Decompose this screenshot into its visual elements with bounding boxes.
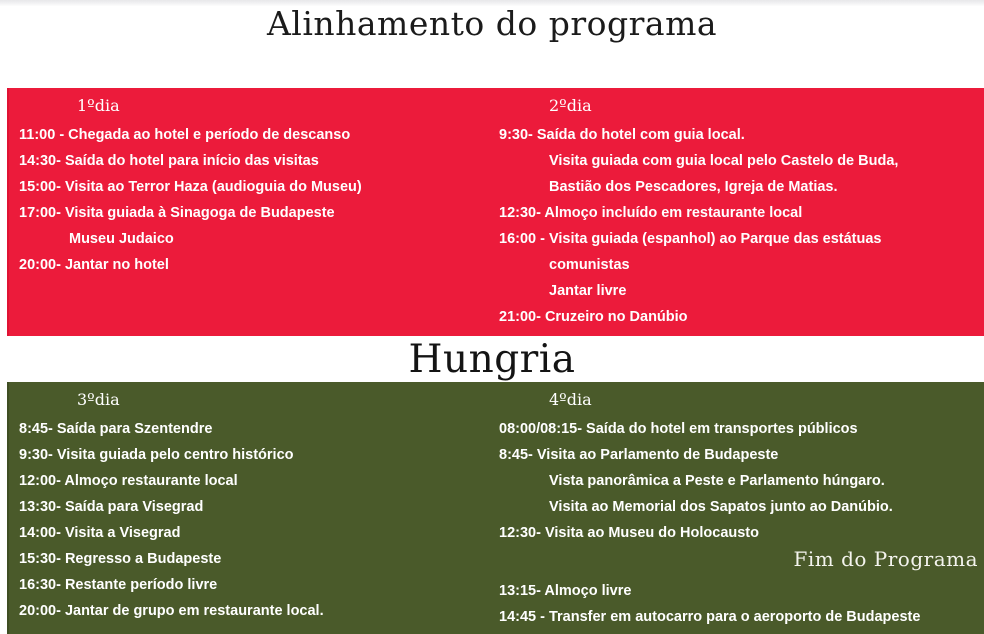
day2-lines: 9:30- Saída do hotel com guia local.Visi… xyxy=(499,122,984,330)
schedule-line: 14:45 - Transfer em autocarro para o aer… xyxy=(499,604,984,630)
schedule-line: 12:30- Almoço incluído em restaurante lo… xyxy=(499,200,984,226)
day1-label: 1ºdia xyxy=(77,96,499,116)
schedule-line: Bastião dos Pescadores, Igreja de Matias… xyxy=(499,174,984,200)
schedule-line: 20:00- Jantar de grupo em restaurante lo… xyxy=(19,598,499,624)
schedule-line: 15:30- Regresso a Budapeste xyxy=(19,546,499,572)
schedule-line: 8:45- Saída para Szentendre xyxy=(19,416,499,442)
day2-label: 2ºdia xyxy=(549,96,984,116)
day4-column: 4ºdia 08:00/08:15- Saída do hotel em tra… xyxy=(499,382,984,634)
schedule-line: 21:00- Cruzeiro no Danúbio xyxy=(499,304,984,330)
schedule-line: Visita ao Memorial dos Sapatos junto ao … xyxy=(499,494,984,520)
schedule-line: 9:30- Visita guiada pelo centro históric… xyxy=(19,442,499,468)
schedule-line: Jantar livre xyxy=(499,278,984,304)
green-band-columns: 3ºdia 8:45- Saída para Szentendre9:30- V… xyxy=(9,382,984,634)
page-title: Alinhamento do programa xyxy=(0,4,984,44)
schedule-line: 13:30- Saída para Visegrad xyxy=(19,494,499,520)
schedule-line: 08:00/08:15- Saída do hotel em transport… xyxy=(499,416,984,442)
country-title: Hungria xyxy=(0,336,984,384)
slide-canvas: Alinhamento do programa 1ºdia 11:00 - Ch… xyxy=(0,0,984,634)
schedule-line: 15:00- Visita ao Terror Haza (audioguia … xyxy=(19,174,499,200)
schedule-line: 16:30- Restante período livre xyxy=(19,572,499,598)
day3-column: 3ºdia 8:45- Saída para Szentendre9:30- V… xyxy=(19,382,499,634)
day1-column: 1ºdia 11:00 - Chegada ao hotel e período… xyxy=(19,88,499,336)
end-of-program-note: Fim do Programa xyxy=(499,546,984,572)
day3-label: 3ºdia xyxy=(77,390,499,410)
red-schedule-band: 1ºdia 11:00 - Chegada ao hotel e período… xyxy=(7,88,984,336)
schedule-line: 12:00- Almoço restaurante local xyxy=(19,468,499,494)
schedule-line: Vista panorâmica a Peste e Parlamento hú… xyxy=(499,468,984,494)
green-schedule-band: 3ºdia 8:45- Saída para Szentendre9:30- V… xyxy=(7,382,984,634)
schedule-line: comunistas xyxy=(499,252,984,278)
schedule-line: 17:00- Visita guiada à Sinagoga de Budap… xyxy=(19,200,499,226)
schedule-line: 14:30- Saída do hotel para início das vi… xyxy=(19,148,499,174)
day4-lines: 08:00/08:15- Saída do hotel em transport… xyxy=(499,416,984,546)
day2-column: 2ºdia 9:30- Saída do hotel com guia loca… xyxy=(499,88,984,336)
schedule-line: 11:00 - Chegada ao hotel e período de de… xyxy=(19,122,499,148)
schedule-line: 20:00- Jantar no hotel xyxy=(19,252,499,278)
day1-lines: 11:00 - Chegada ao hotel e período de de… xyxy=(19,122,499,278)
schedule-line: 12:30- Visita ao Museu do Holocausto xyxy=(499,520,984,546)
schedule-line: 8:45- Visita ao Parlamento de Budapeste xyxy=(499,442,984,468)
day4-label: 4ºdia xyxy=(549,390,984,410)
schedule-line: 14:00- Visita a Visegrad xyxy=(19,520,499,546)
schedule-line: Museu Judaico xyxy=(19,226,499,252)
schedule-line: 16:00 - Visita guiada (espanhol) ao Parq… xyxy=(499,226,984,252)
schedule-line: Visita guiada com guia local pelo Castel… xyxy=(499,148,984,174)
schedule-line: 13:15- Almoço livre xyxy=(499,578,984,604)
day4-trailing-lines: 13:15- Almoço livre14:45 - Transfer em a… xyxy=(499,578,984,630)
schedule-line: 9:30- Saída do hotel com guia local. xyxy=(499,122,984,148)
day3-lines: 8:45- Saída para Szentendre9:30- Visita … xyxy=(19,416,499,624)
red-band-columns: 1ºdia 11:00 - Chegada ao hotel e período… xyxy=(9,88,984,336)
